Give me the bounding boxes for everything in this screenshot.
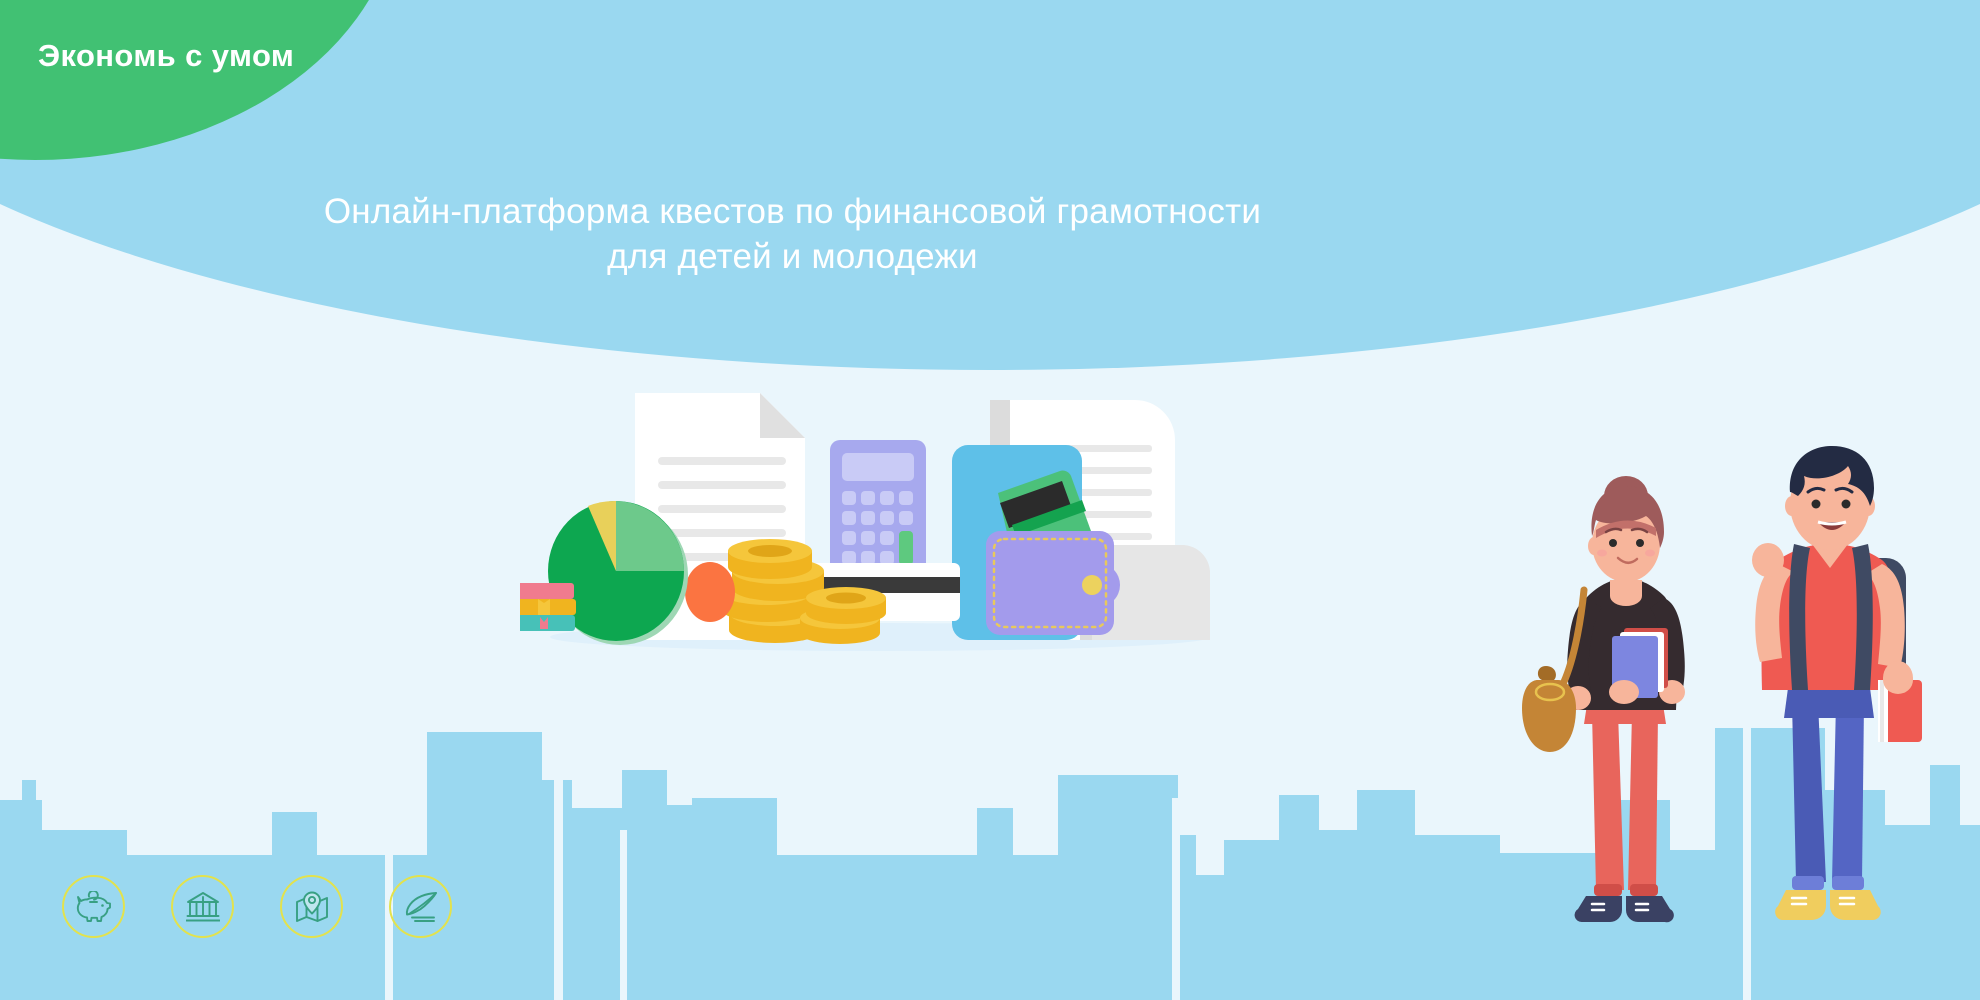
headline-line-2: для детей и молодежи xyxy=(0,235,1585,280)
quill-pen-icon[interactable] xyxy=(389,875,452,938)
page-root: Экономь с умом Онлайн-платформа квестов … xyxy=(0,0,1980,1000)
bank-building-glyph xyxy=(186,891,220,923)
student-girl xyxy=(1522,476,1685,922)
students-illustration xyxy=(1520,440,1980,1000)
finance-illustration xyxy=(520,385,1240,655)
headline-line-1: Онлайн-платформа квестов по финансовой г… xyxy=(0,190,1585,235)
quill-pen-glyph xyxy=(404,891,438,923)
hero-headline: Онлайн-платформа квестов по финансовой г… xyxy=(0,190,1585,280)
brand-logo-text[interactable]: Экономь с умом xyxy=(38,38,294,74)
book-stack xyxy=(520,583,576,631)
orange-coin xyxy=(685,562,735,622)
feature-icons-row xyxy=(62,875,452,938)
boy-book xyxy=(1878,666,1922,742)
piggy-bank-glyph xyxy=(76,891,112,923)
student-boy xyxy=(1752,446,1922,920)
map-location-icon[interactable] xyxy=(280,875,343,938)
piggy-bank-icon[interactable] xyxy=(62,875,125,938)
map-location-glyph xyxy=(295,891,329,923)
coin-stack-secondary xyxy=(800,587,886,644)
bank-building-icon[interactable] xyxy=(171,875,234,938)
